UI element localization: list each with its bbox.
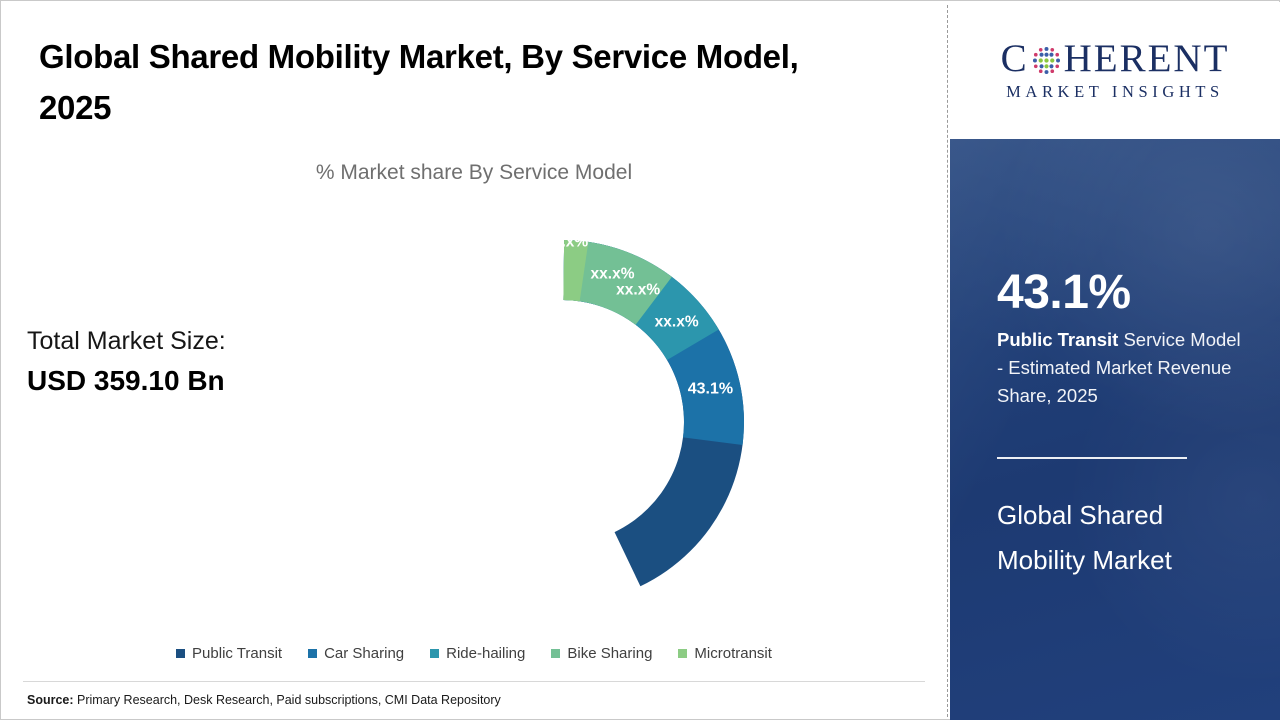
legend-label: Bike Sharing xyxy=(567,645,652,662)
brand-logo-text: HERENT xyxy=(1064,39,1230,78)
highlight-segment-name: Public Transit xyxy=(997,329,1118,350)
highlight-rule xyxy=(997,457,1187,459)
chart-panel: Global Shared Mobility Market, By Servic… xyxy=(1,1,947,719)
infographic-page: Global Shared Mobility Market, By Servic… xyxy=(0,0,1280,720)
legend-swatch-icon xyxy=(176,649,185,658)
brand-tagline: MARKET INSIGHTS xyxy=(1006,82,1224,102)
legend-item[interactable]: Car Sharing xyxy=(308,645,404,662)
dotted-globe-icon xyxy=(1030,44,1063,77)
donut-chart-svg: 43.1%xx.x%xx.x%xx.x%xx.x% xyxy=(371,231,753,613)
legend-item[interactable]: Bike Sharing xyxy=(551,645,652,662)
legend-swatch-icon xyxy=(551,649,560,658)
legend-swatch-icon xyxy=(678,649,687,658)
brand-logo: C xyxy=(950,2,1280,139)
total-market-size-value: USD 359.10 Bn xyxy=(27,361,327,402)
donut-slice-label: xx.x% xyxy=(544,234,588,251)
donut-slice-label: xx.x% xyxy=(591,266,635,283)
chart-subtitle: % Market share By Service Model xyxy=(1,161,947,185)
page-title: Global Shared Mobility Market, By Servic… xyxy=(39,31,839,133)
legend-item[interactable]: Public Transit xyxy=(176,645,282,662)
panel-background-texture xyxy=(950,139,1280,720)
total-market-size-label: Total Market Size: xyxy=(27,323,327,361)
highlight-panel: 43.1% Public Transit Service Model - Est… xyxy=(950,139,1280,720)
legend-label: Ride-hailing xyxy=(446,645,525,662)
legend-label: Microtransit xyxy=(694,645,772,662)
donut-slice-label: xx.x% xyxy=(616,282,660,299)
panel-divider xyxy=(947,5,948,717)
highlight-percent: 43.1% xyxy=(997,269,1131,317)
footer-divider xyxy=(23,681,925,682)
total-market-size-block: Total Market Size: USD 359.10 Bn xyxy=(27,323,327,401)
legend-item[interactable]: Microtransit xyxy=(678,645,772,662)
market-name: Global Shared Mobility Market xyxy=(997,493,1237,582)
source-text: Primary Research, Desk Research, Paid su… xyxy=(77,693,501,707)
highlight-description: Public Transit Service Model - Estimated… xyxy=(997,326,1247,410)
legend-swatch-icon xyxy=(308,649,317,658)
donut-slice-label: xx.x% xyxy=(655,313,699,330)
brand-logo-letter-c: C xyxy=(1001,39,1029,78)
legend-label: Public Transit xyxy=(192,645,282,662)
chart-legend: Public TransitCar SharingRide-hailingBik… xyxy=(1,645,947,662)
donut-slice-label: 43.1% xyxy=(688,381,733,398)
source-label: Source: xyxy=(27,693,74,707)
legend-swatch-icon xyxy=(430,649,439,658)
donut-chart: 43.1%xx.x%xx.x%xx.x%xx.x% xyxy=(371,231,753,613)
source-note: Source: Primary Research, Desk Research,… xyxy=(27,693,501,707)
legend-item[interactable]: Ride-hailing xyxy=(430,645,525,662)
legend-label: Car Sharing xyxy=(324,645,404,662)
brand-panel: C xyxy=(950,2,1280,720)
brand-logo-wordmark: C xyxy=(1001,39,1230,78)
